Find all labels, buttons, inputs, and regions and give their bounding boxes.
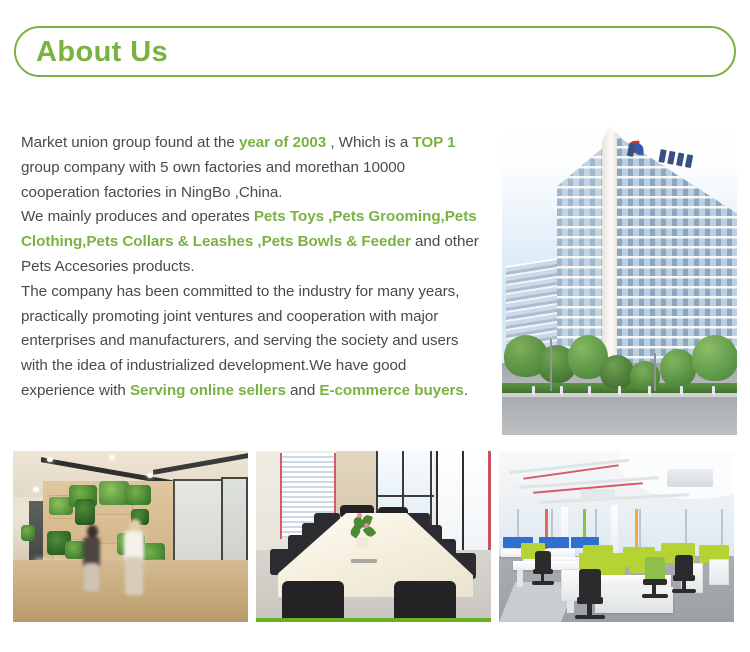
- p1-mid: , Which is a: [326, 134, 412, 151]
- chair-back: [645, 557, 665, 581]
- wall-plant: [21, 525, 35, 541]
- plant-flower: [364, 523, 369, 528]
- street-tree: [692, 335, 737, 381]
- about-text-block: Market union group found at the year of …: [21, 131, 481, 404]
- chair-base: [575, 615, 605, 619]
- p4-post: .: [464, 382, 468, 399]
- ceiling-downlight: [109, 455, 115, 460]
- bollard: [680, 386, 683, 395]
- ceiling-ac-unit: [581, 489, 615, 500]
- lobby-green-plant-wall-photo: [13, 451, 248, 622]
- about-paragraph-2: We mainly produces and operates Pets Toy…: [21, 205, 481, 279]
- plant-flower: [357, 513, 362, 518]
- ceiling-downlight: [147, 473, 153, 478]
- about-us-section: About Us Market union group found at the…: [0, 0, 750, 652]
- chair-back: [579, 569, 601, 599]
- chair-base: [532, 581, 554, 585]
- person-legs: [84, 563, 99, 591]
- chair-base: [642, 594, 668, 598]
- highlight-top1: TOP 1: [412, 134, 455, 151]
- p4-mid: and: [286, 382, 320, 399]
- plant-pot: [356, 537, 368, 548]
- street-tree: [660, 349, 696, 387]
- street-light-pole: [550, 339, 552, 391]
- company-logo-mark-blue: [634, 144, 644, 156]
- chair-base: [672, 589, 696, 593]
- about-paragraph-1: Market union group found at the year of …: [21, 131, 481, 205]
- highlight-ecommerce-buyers: E-commerce buyers: [319, 382, 463, 399]
- highlight-online-sellers: Serving online sellers: [130, 382, 286, 399]
- ceiling-downlight: [33, 487, 39, 492]
- meeting-room-photo: [256, 451, 491, 622]
- bollard: [532, 386, 535, 395]
- street-sign-pole: [654, 353, 656, 391]
- p1-pre: Market union group found at the: [21, 134, 239, 151]
- wall-plant: [75, 499, 95, 525]
- highlight-year: year of 2003: [239, 134, 326, 151]
- meeting-chair-foreground: [282, 581, 344, 622]
- bollard: [648, 386, 651, 395]
- page-title: About Us: [36, 36, 168, 68]
- chair-back: [675, 555, 693, 577]
- photo-accent-strip: [256, 618, 491, 622]
- p2-pre: We mainly produces and operates: [21, 208, 254, 225]
- ceiling-downlight: [47, 457, 53, 462]
- company-headquarters-building-photo: [502, 118, 737, 435]
- window-transom: [376, 495, 434, 497]
- bollard: [588, 386, 591, 395]
- table-cable-port: [351, 559, 377, 563]
- wall-plant: [125, 485, 151, 505]
- ceiling-ac-unit: [667, 469, 713, 487]
- street-road: [502, 395, 737, 435]
- desk-side-panel: [595, 587, 673, 613]
- open-plan-office-photo: [499, 451, 734, 622]
- desk-leg: [517, 569, 523, 587]
- window-frame-accent: [280, 453, 282, 539]
- bollard: [712, 386, 715, 395]
- chair-back: [535, 551, 551, 571]
- wall-plant: [65, 541, 85, 559]
- bollard: [560, 386, 563, 395]
- street-tree: [600, 355, 634, 389]
- desk-pedestal: [709, 559, 729, 585]
- meeting-chair-foreground: [394, 581, 456, 622]
- about-paragraph-3: The company has been committed to the in…: [21, 280, 481, 404]
- person-legs: [125, 557, 143, 595]
- p1-post: group company with 5 own factories and m…: [21, 159, 405, 201]
- bollard: [618, 386, 621, 395]
